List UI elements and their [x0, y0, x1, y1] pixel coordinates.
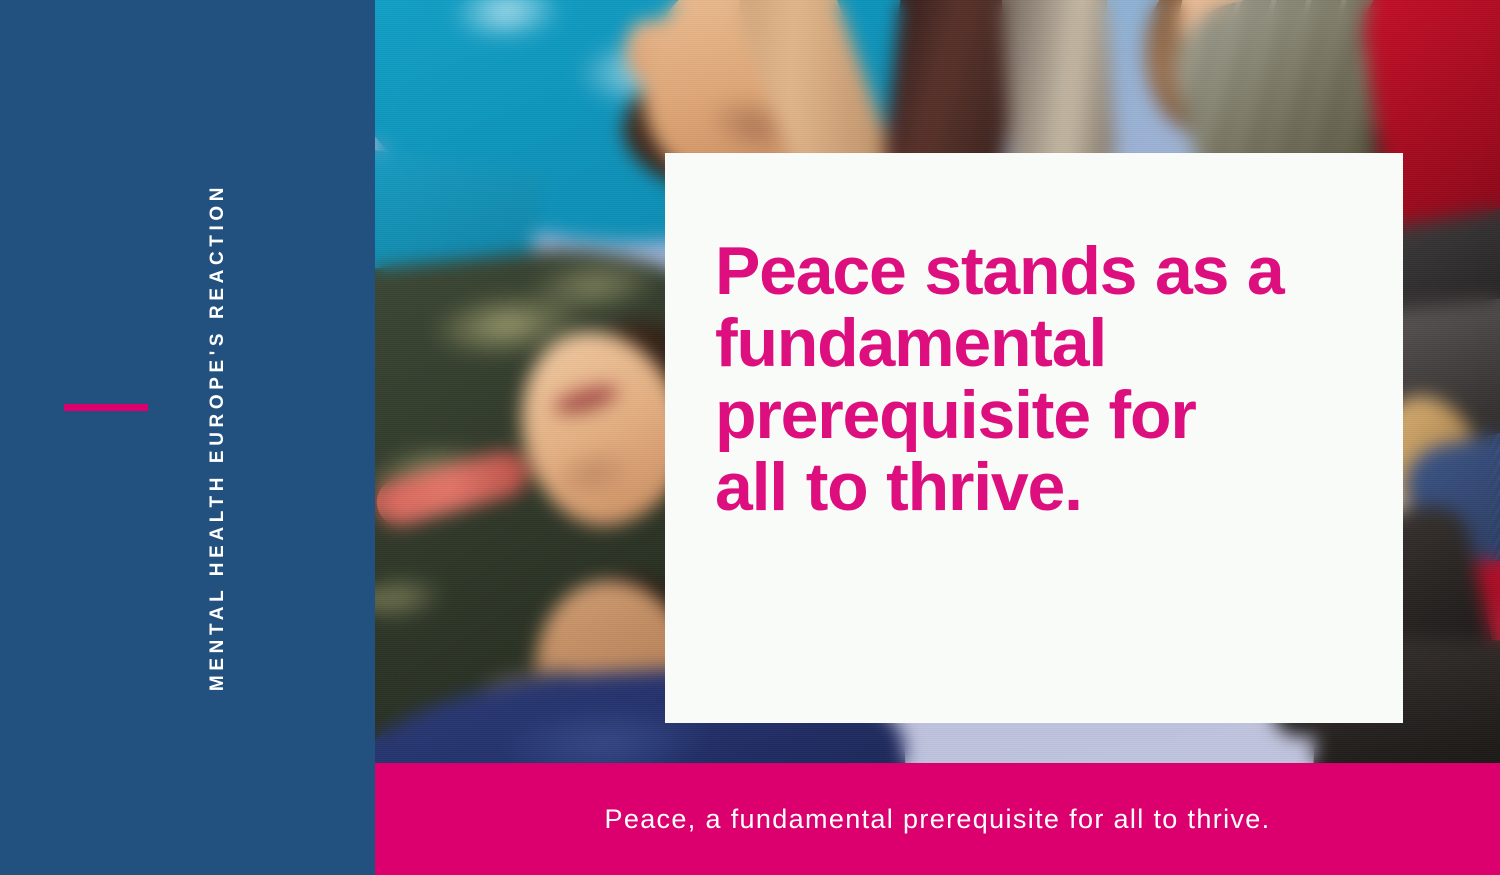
quote-line-4: all to thrive. — [715, 449, 1082, 525]
tan-sleeve-shape — [999, 0, 1116, 178]
quote-card: Peace stands as a fundamental prerequisi… — [665, 153, 1403, 723]
sidebar-panel: MENTAL HEALTH EUROPE'S REACTION — [0, 0, 375, 875]
sidebar-label-wrapper: MENTAL HEALTH EUROPE'S REACTION — [0, 0, 375, 875]
poster-canvas: MENTAL HEALTH EUROPE'S REACTION Peace st… — [0, 0, 1500, 875]
quote-line-2: fundamental — [715, 305, 1106, 381]
caption-text: Peace, a fundamental prerequisite for al… — [604, 804, 1270, 835]
quote-line-3: prerequisite for — [715, 377, 1196, 453]
caption-bar: Peace, a fundamental prerequisite for al… — [375, 763, 1500, 875]
sidebar-vertical-label: MENTAL HEALTH EUROPE'S REACTION — [207, 183, 229, 691]
quote-text: Peace stands as a fundamental prerequisi… — [715, 235, 1355, 523]
quote-line-1: Peace stands as a — [715, 233, 1284, 309]
